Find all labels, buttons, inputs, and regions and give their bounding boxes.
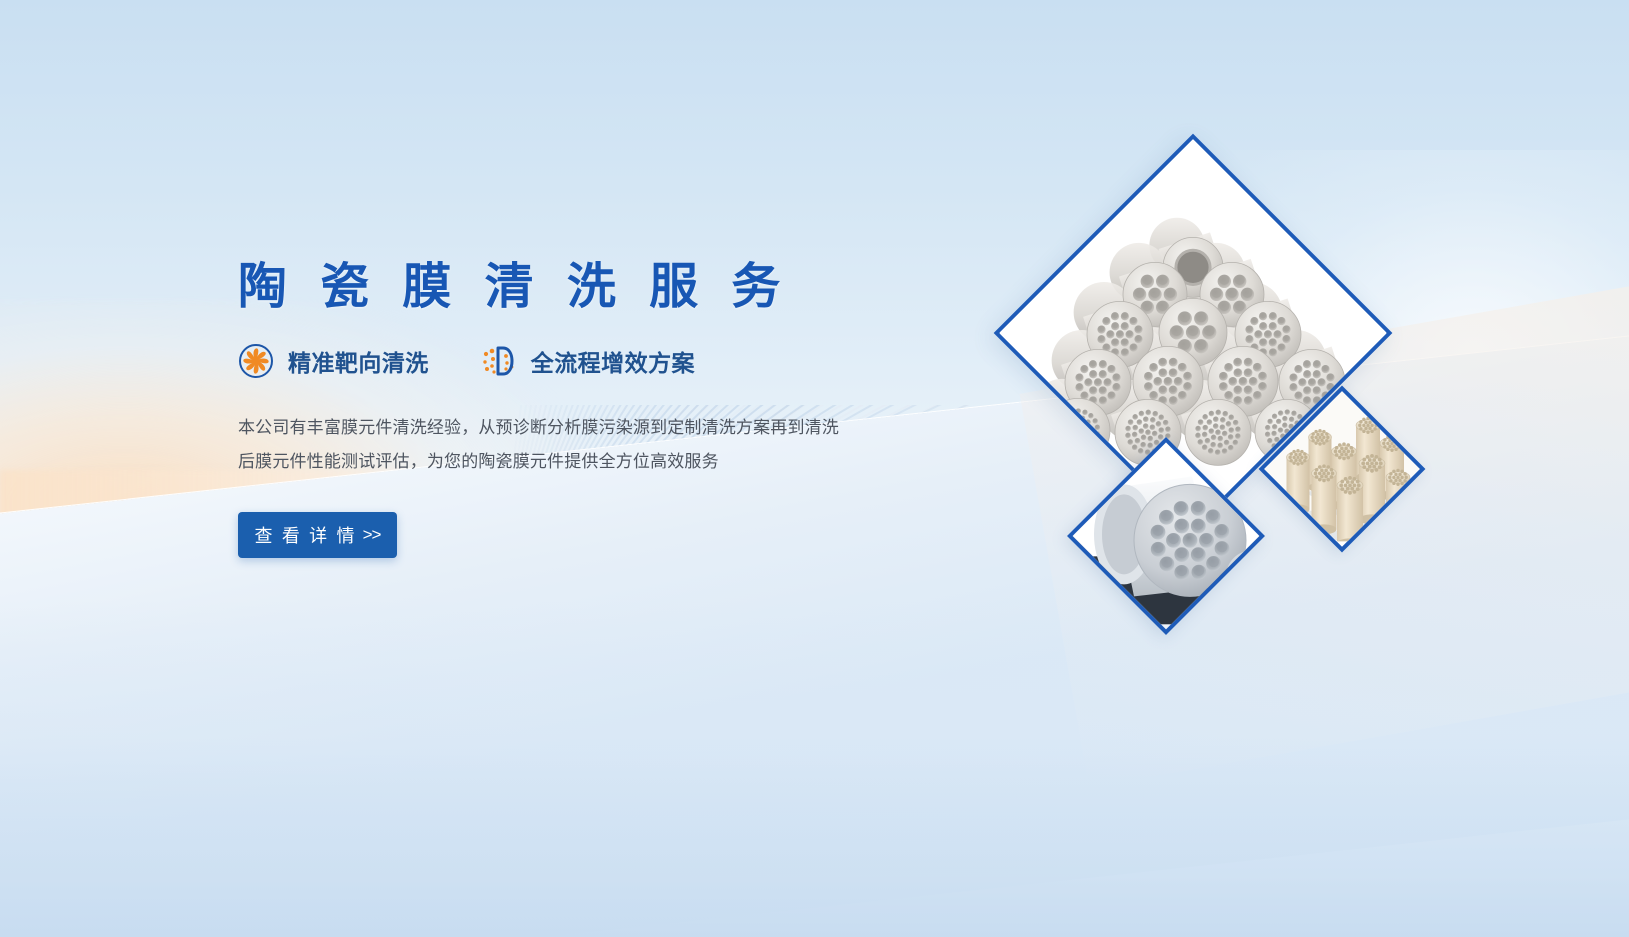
description-line-1: 本公司有丰富膜元件清洗经验，从预诊断分析膜污染源到定制清洗方案再到清洗 (238, 411, 898, 445)
view-details-label: 查 看 详 情 (255, 522, 357, 548)
chevron-right-icon: >> (363, 525, 381, 545)
feature-label: 全流程增效方案 (531, 344, 695, 378)
feature-item-targeted-cleaning: 精准靶向清洗 (238, 343, 429, 379)
page-title: 陶 瓷 膜 清 洗 服 务 (238, 258, 938, 317)
feature-list: 精准靶向清洗 (238, 343, 938, 379)
hero-description: 本公司有丰富膜元件清洗经验，从预诊断分析膜污染源到定制清洗方案再到清洗 后膜元件… (238, 411, 898, 479)
background-bottom-haze (0, 737, 1629, 937)
feature-item-full-process: 全流程增效方案 (481, 343, 695, 379)
feature-label: 精准靶向清洗 (288, 344, 429, 378)
pinwheel-icon (238, 343, 274, 379)
description-line-2: 后膜元件性能测试评估，为您的陶瓷膜元件提供全方位高效服务 (238, 445, 898, 479)
hero-content: 陶 瓷 膜 清 洗 服 务 (238, 258, 938, 558)
process-flow-icon (481, 343, 517, 379)
view-details-button[interactable]: 查 看 详 情 >> (238, 512, 397, 558)
hero-banner: 陶 瓷 膜 清 洗 服 务 (0, 0, 1629, 937)
